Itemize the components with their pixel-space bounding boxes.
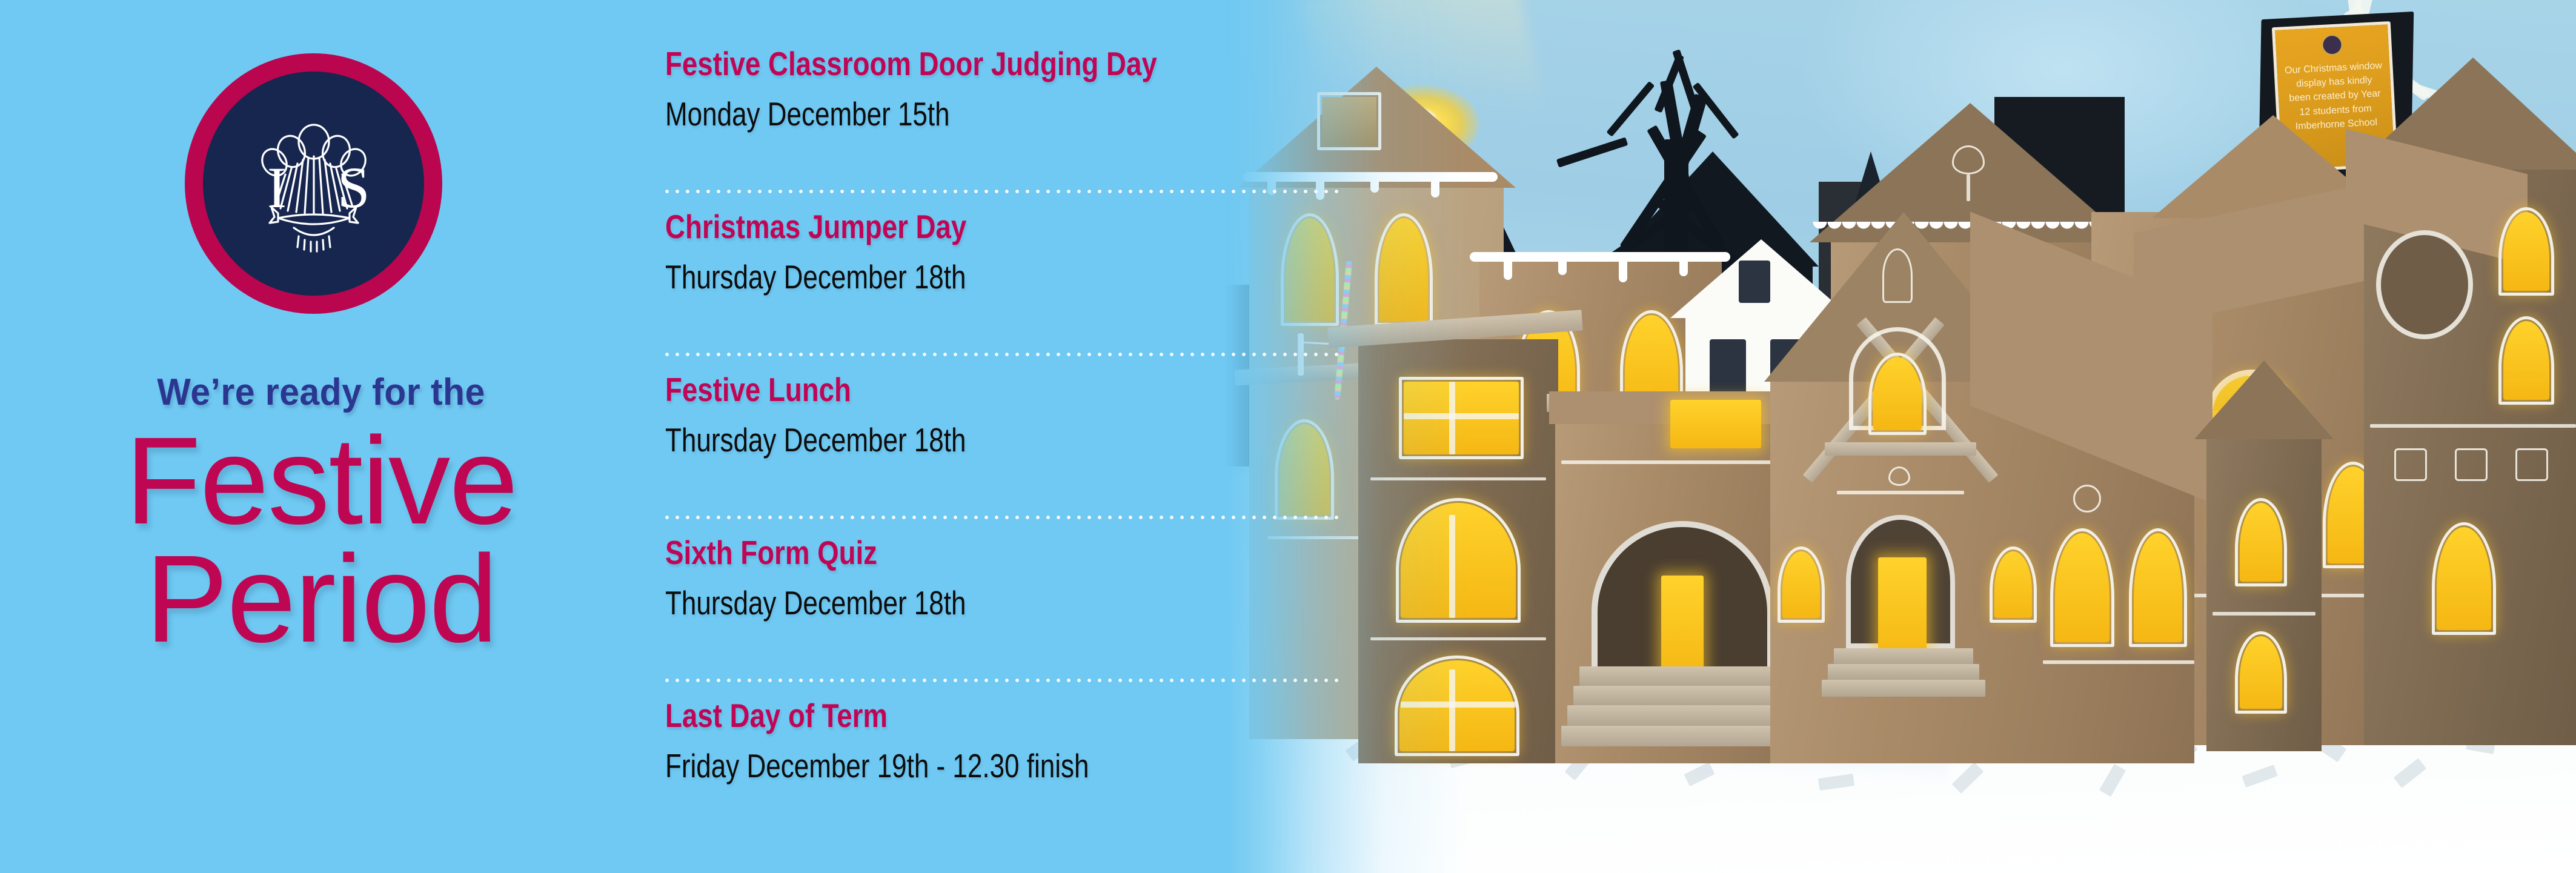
school-seal-icon — [2322, 34, 2343, 56]
christmas-window-display-photo: Our Christmas window display has kindly … — [1225, 0, 2576, 873]
prince-of-wales-feathers-icon: I S — [256, 122, 371, 256]
gingerbread-tower-house — [2364, 164, 2576, 745]
dotted-divider — [665, 679, 1343, 682]
left-content-panel: I S We’re ready for the Festive Period — [0, 0, 642, 873]
event-title: Last Day of Term — [665, 699, 1229, 732]
festive-events-list: Festive Classroom Door Judging Day Monda… — [665, 0, 1344, 873]
festive-period-banner: Our Christmas window display has kindly … — [0, 0, 2576, 873]
event-title: Christmas Jumper Day — [665, 210, 1229, 244]
gingerbread-house-tall-front — [1358, 339, 1558, 763]
svg-text:I: I — [267, 155, 287, 220]
dotted-divider — [665, 516, 1343, 519]
gingerbread-turret — [2206, 436, 2322, 751]
event-title: Sixth Form Quiz — [665, 536, 1229, 569]
event-item: Last Day of Term Friday December 19th - … — [665, 699, 1344, 862]
event-item: Festive Classroom Door Judging Day Monda… — [665, 47, 1344, 210]
dotted-divider — [665, 190, 1343, 193]
event-date: Thursday December 18th — [665, 586, 1208, 620]
event-date: Friday December 19th - 12.30 finish — [665, 749, 1208, 783]
headline-line-2: Period — [0, 542, 642, 657]
event-date: Monday December 15th — [665, 98, 1208, 131]
event-date: Thursday December 18th — [665, 261, 1208, 294]
dotted-divider — [665, 353, 1343, 356]
event-item: Festive Lunch Thursday December 18th — [665, 373, 1344, 536]
event-title: Festive Classroom Door Judging Day — [665, 47, 1229, 81]
tagline: We’re ready for the — [16, 371, 626, 414]
svg-text:S: S — [337, 155, 370, 220]
event-title: Festive Lunch — [665, 373, 1229, 407]
school-logo: I S — [185, 53, 442, 314]
event-date: Thursday December 18th — [665, 423, 1208, 457]
event-item: Sixth Form Quiz Thursday December 18th — [665, 536, 1344, 699]
event-item: Christmas Jumper Day Thursday December 1… — [665, 210, 1344, 373]
gingerbread-church-front — [1770, 376, 2194, 763]
headline-line-1: Festive — [0, 424, 642, 539]
